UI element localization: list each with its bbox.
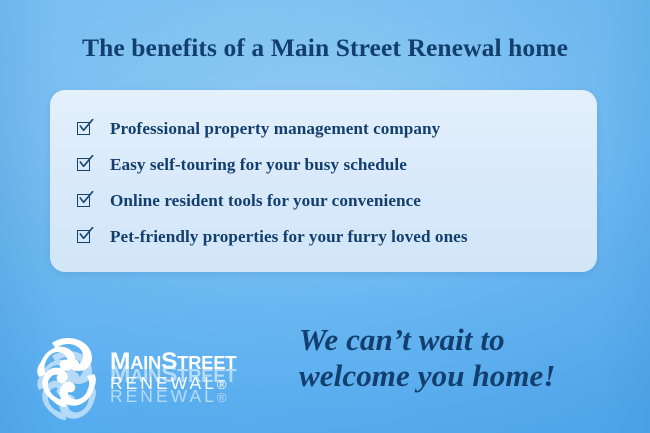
- logo-subtitle: RENEWAL: [110, 373, 217, 393]
- brand-logo: MAINSTREET RENEWAL® MAINSTREET RENEWAL®: [32, 328, 282, 414]
- brand-logo-primary-copy: MAINSTREET RENEWAL®: [32, 328, 282, 414]
- logo-name-treet: TREET: [177, 352, 236, 373]
- list-item-label: Professional property management company: [110, 119, 440, 139]
- page-title: The benefits of a Main Street Renewal ho…: [0, 33, 650, 63]
- checked-checkbox-icon: [77, 192, 96, 211]
- list-item: Pet-friendly properties for your furry l…: [50, 219, 597, 255]
- brand-logo-wordmark: MAINSTREET RENEWAL®: [110, 348, 282, 394]
- checked-checkbox-icon: [77, 120, 96, 139]
- list-item-label: Easy self-touring for your busy schedule: [110, 155, 407, 175]
- benefits-list: Professional property management company…: [50, 90, 597, 272]
- logo-name-ain: AIN: [130, 352, 161, 373]
- closing-message-line2: welcome you home!: [299, 358, 639, 394]
- list-item: Online resident tools for your convenien…: [50, 183, 597, 219]
- list-item-label: Online resident tools for your convenien…: [110, 191, 421, 211]
- benefits-card: Professional property management company…: [50, 90, 597, 272]
- logo-name-m: M: [110, 348, 130, 375]
- list-item: Professional property management company: [50, 111, 597, 147]
- marketing-poster: The benefits of a Main Street Renewal ho…: [0, 0, 650, 433]
- closing-message-line1: We can’t wait to: [299, 322, 505, 357]
- logo-name-s: S: [161, 348, 177, 375]
- checked-checkbox-icon: [77, 228, 96, 247]
- checked-checkbox-icon: [77, 156, 96, 175]
- mainstreet-renewal-pinwheel-icon: [32, 333, 104, 409]
- list-item: Easy self-touring for your busy schedule: [50, 147, 597, 183]
- closing-message: We can’t wait to welcome you home!: [299, 322, 639, 394]
- logo-registered-mark: ®: [217, 377, 227, 392]
- list-item-label: Pet-friendly properties for your furry l…: [110, 227, 468, 247]
